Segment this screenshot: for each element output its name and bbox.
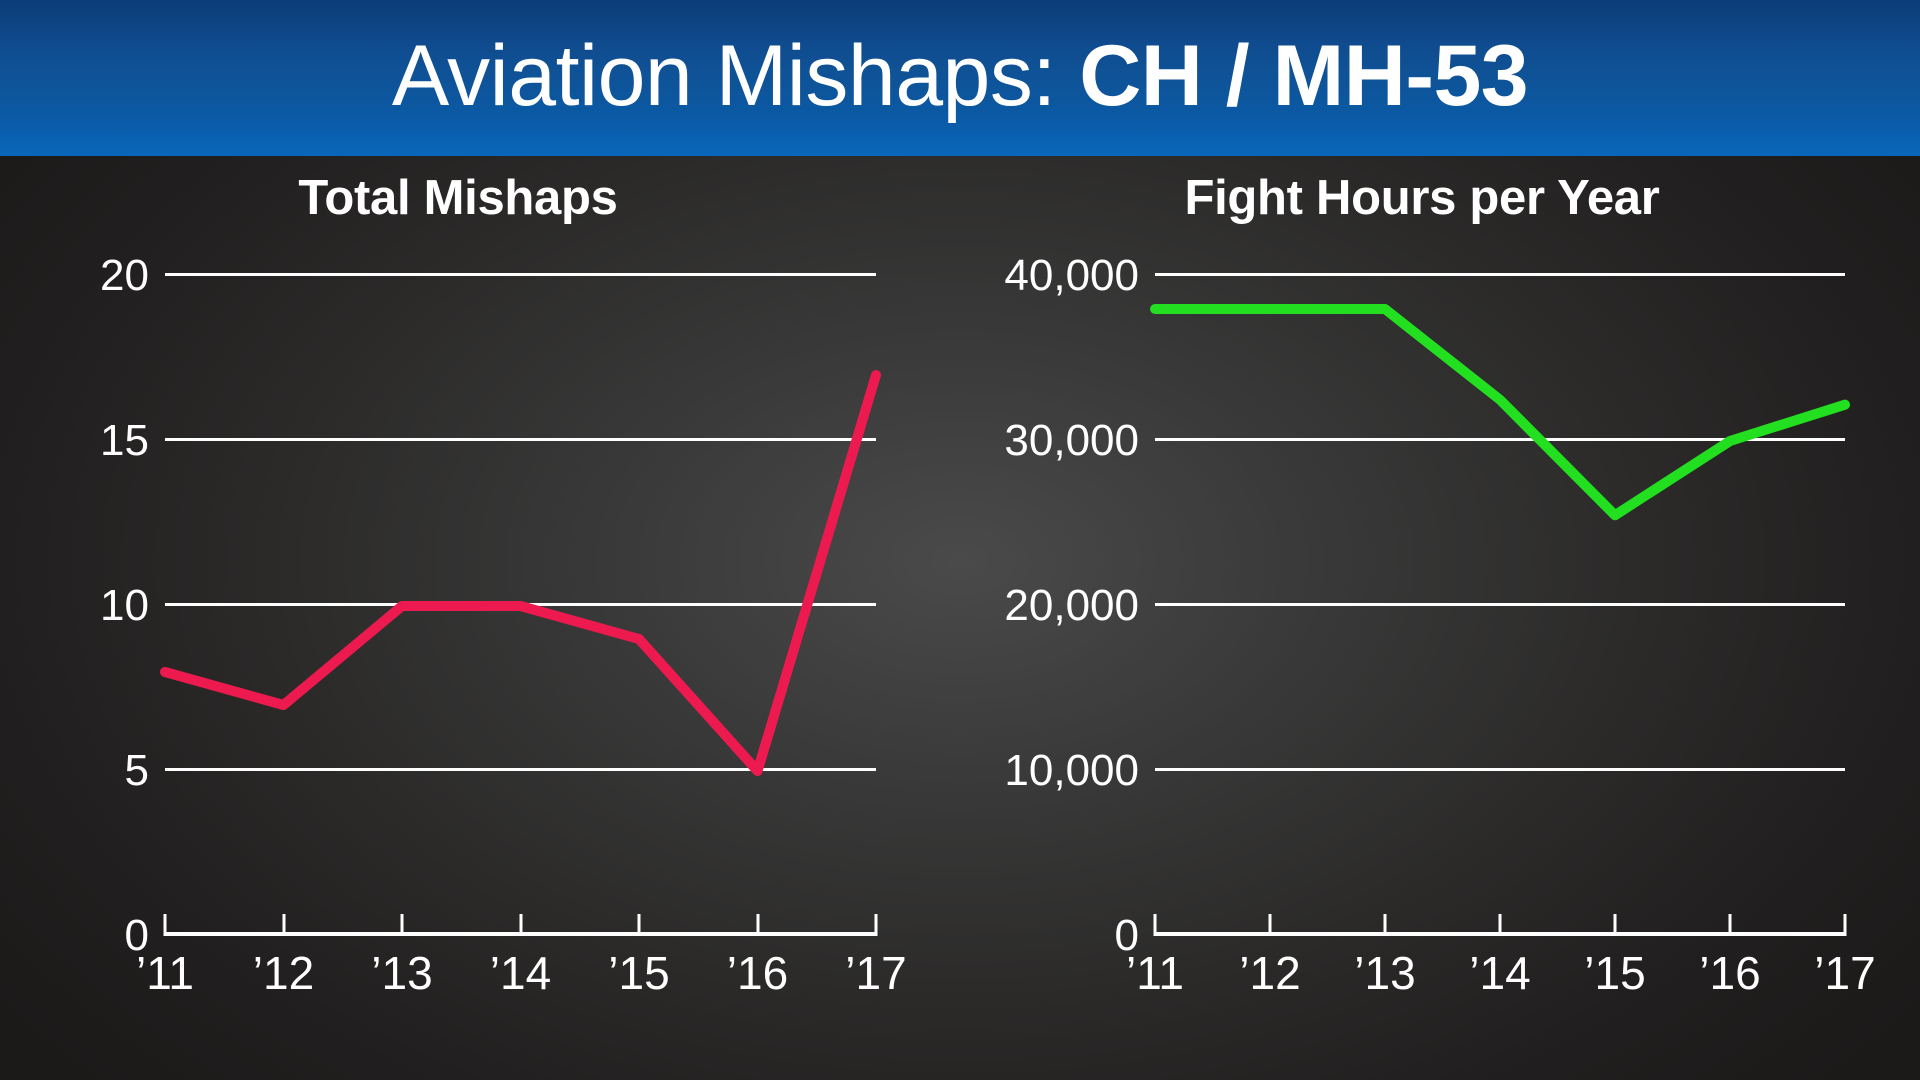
gridline: [165, 438, 876, 441]
plot-area-total-mishaps: 05101520 ’11’12’13’14’15’16’17: [165, 276, 876, 936]
chart-panel-flight-hours: Fight Hours per Year 010,00020,00030,000…: [960, 156, 1920, 1080]
x-tick-label: ’13: [371, 950, 432, 996]
x-tick-mark: [1729, 914, 1732, 936]
x-tick-label: ’14: [490, 950, 551, 996]
slide-title: Aviation Mishaps: CH / MH-53: [392, 33, 1528, 119]
x-tick-label: ’15: [1584, 950, 1645, 996]
x-tick-mark: [756, 914, 759, 936]
x-tick-label: ’15: [608, 950, 669, 996]
slide-header-bar: Aviation Mishaps: CH / MH-53: [0, 0, 1920, 156]
chart-title-flight-hours: Fight Hours per Year: [942, 174, 1902, 223]
x-tick-label: ’17: [845, 950, 906, 996]
x-tick-label: ’12: [1239, 950, 1300, 996]
slide-root: Aviation Mishaps: CH / MH-53 Total Misha…: [0, 0, 1920, 1080]
x-tick-label: ’14: [1469, 950, 1530, 996]
x-tick-label: ’16: [1699, 950, 1760, 996]
x-tick-mark: [638, 914, 641, 936]
gridline: [1155, 603, 1845, 606]
chart-title-total-mishaps: Total Mishaps: [0, 174, 938, 223]
y-tick-label: 5: [125, 749, 149, 793]
x-tick-label: ’13: [1354, 950, 1415, 996]
y-tick-label: 40,000: [1004, 254, 1139, 298]
slide-title-primary: Aviation Mishaps:: [392, 28, 1079, 124]
gridline: [165, 603, 876, 606]
x-tick-label: ’12: [253, 950, 314, 996]
x-tick-mark: [875, 914, 878, 936]
y-tick-label: 15: [100, 419, 149, 463]
x-tick-label: ’16: [727, 950, 788, 996]
x-tick-mark: [1499, 914, 1502, 936]
x-tick-label: ’17: [1814, 950, 1875, 996]
y-tick-label: 30,000: [1004, 419, 1139, 463]
gridline: [1155, 438, 1845, 441]
x-tick-mark: [1614, 914, 1617, 936]
y-tick-label: 20: [100, 254, 149, 298]
gridline: [1155, 768, 1845, 771]
gridline: [165, 273, 876, 276]
x-tick-mark: [1844, 914, 1847, 936]
plot-area-flight-hours: 010,00020,00030,00040,000 ’11’12’13’14’1…: [1155, 276, 1845, 936]
y-tick-label: 10,000: [1004, 749, 1139, 793]
x-tick-mark: [401, 914, 404, 936]
x-tick-label: ’11: [136, 950, 194, 996]
series-line-flight-hours: [1155, 276, 1845, 936]
x-tick-mark: [519, 914, 522, 936]
y-tick-label: 20,000: [1004, 584, 1139, 628]
x-tick-label: ’11: [1126, 950, 1184, 996]
y-tick-label: 10: [100, 584, 149, 628]
charts-container: Total Mishaps 05101520 ’11’12’13’14’15’1…: [0, 156, 1920, 1080]
x-tick-mark: [164, 914, 167, 936]
x-tick-mark: [1269, 914, 1272, 936]
x-tick-mark: [282, 914, 285, 936]
chart-panel-total-mishaps: Total Mishaps 05101520 ’11’12’13’14’15’1…: [0, 156, 960, 1080]
series-line-total-mishaps: [165, 276, 876, 936]
gridline: [165, 768, 876, 771]
slide-title-emphasis: CH / MH-53: [1079, 28, 1528, 124]
gridline: [1155, 273, 1845, 276]
x-tick-mark: [1154, 914, 1157, 936]
x-tick-mark: [1384, 914, 1387, 936]
